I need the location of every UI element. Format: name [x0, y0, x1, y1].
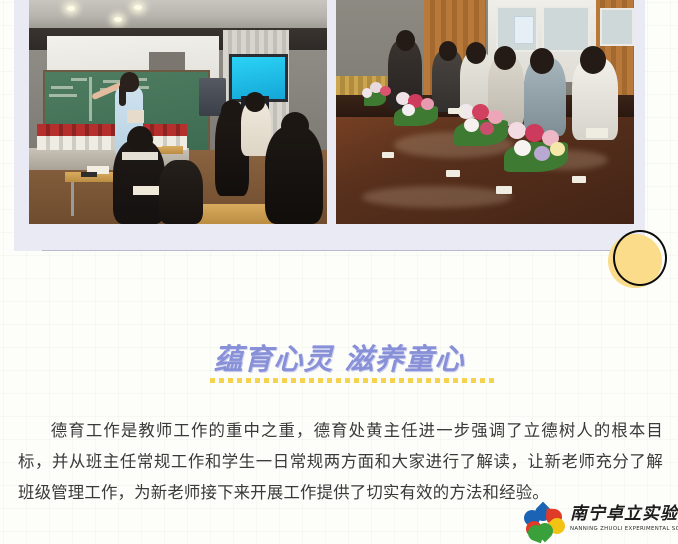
- meeting-room-photo-content: [336, 0, 634, 224]
- headline-container: 蕴育心灵 滋养童心: [0, 336, 678, 382]
- photo-panel-divider: [42, 250, 638, 251]
- school-name-cn: 南宁卓立实验学校: [570, 503, 674, 525]
- body-paragraph: 德育工作是教师工作的重中之重，德育处黄主任进一步强调了立德树人的根本目标，并从班…: [18, 415, 663, 508]
- classroom-photo-content: [29, 0, 327, 224]
- school-logo-text: 南宁卓立实验学校 NANNING ZHUOLI EXPERIMENTAL SCH…: [570, 503, 674, 533]
- circle-outline: [613, 230, 667, 286]
- page-title: 蕴育心灵 滋养童心: [207, 336, 470, 382]
- flower-logo-icon: [524, 505, 566, 539]
- meeting-room-photo: [336, 0, 634, 224]
- school-logo: 南宁卓立实验学校 NANNING ZHUOLI EXPERIMENTAL SCH…: [524, 503, 674, 541]
- yellow-circle-accent: [608, 230, 666, 288]
- classroom-presentation-photo: [29, 0, 327, 224]
- school-name-en: NANNING ZHUOLI EXPERIMENTAL SCHOOL: [570, 525, 674, 533]
- headline-dotted-underline: [210, 378, 496, 383]
